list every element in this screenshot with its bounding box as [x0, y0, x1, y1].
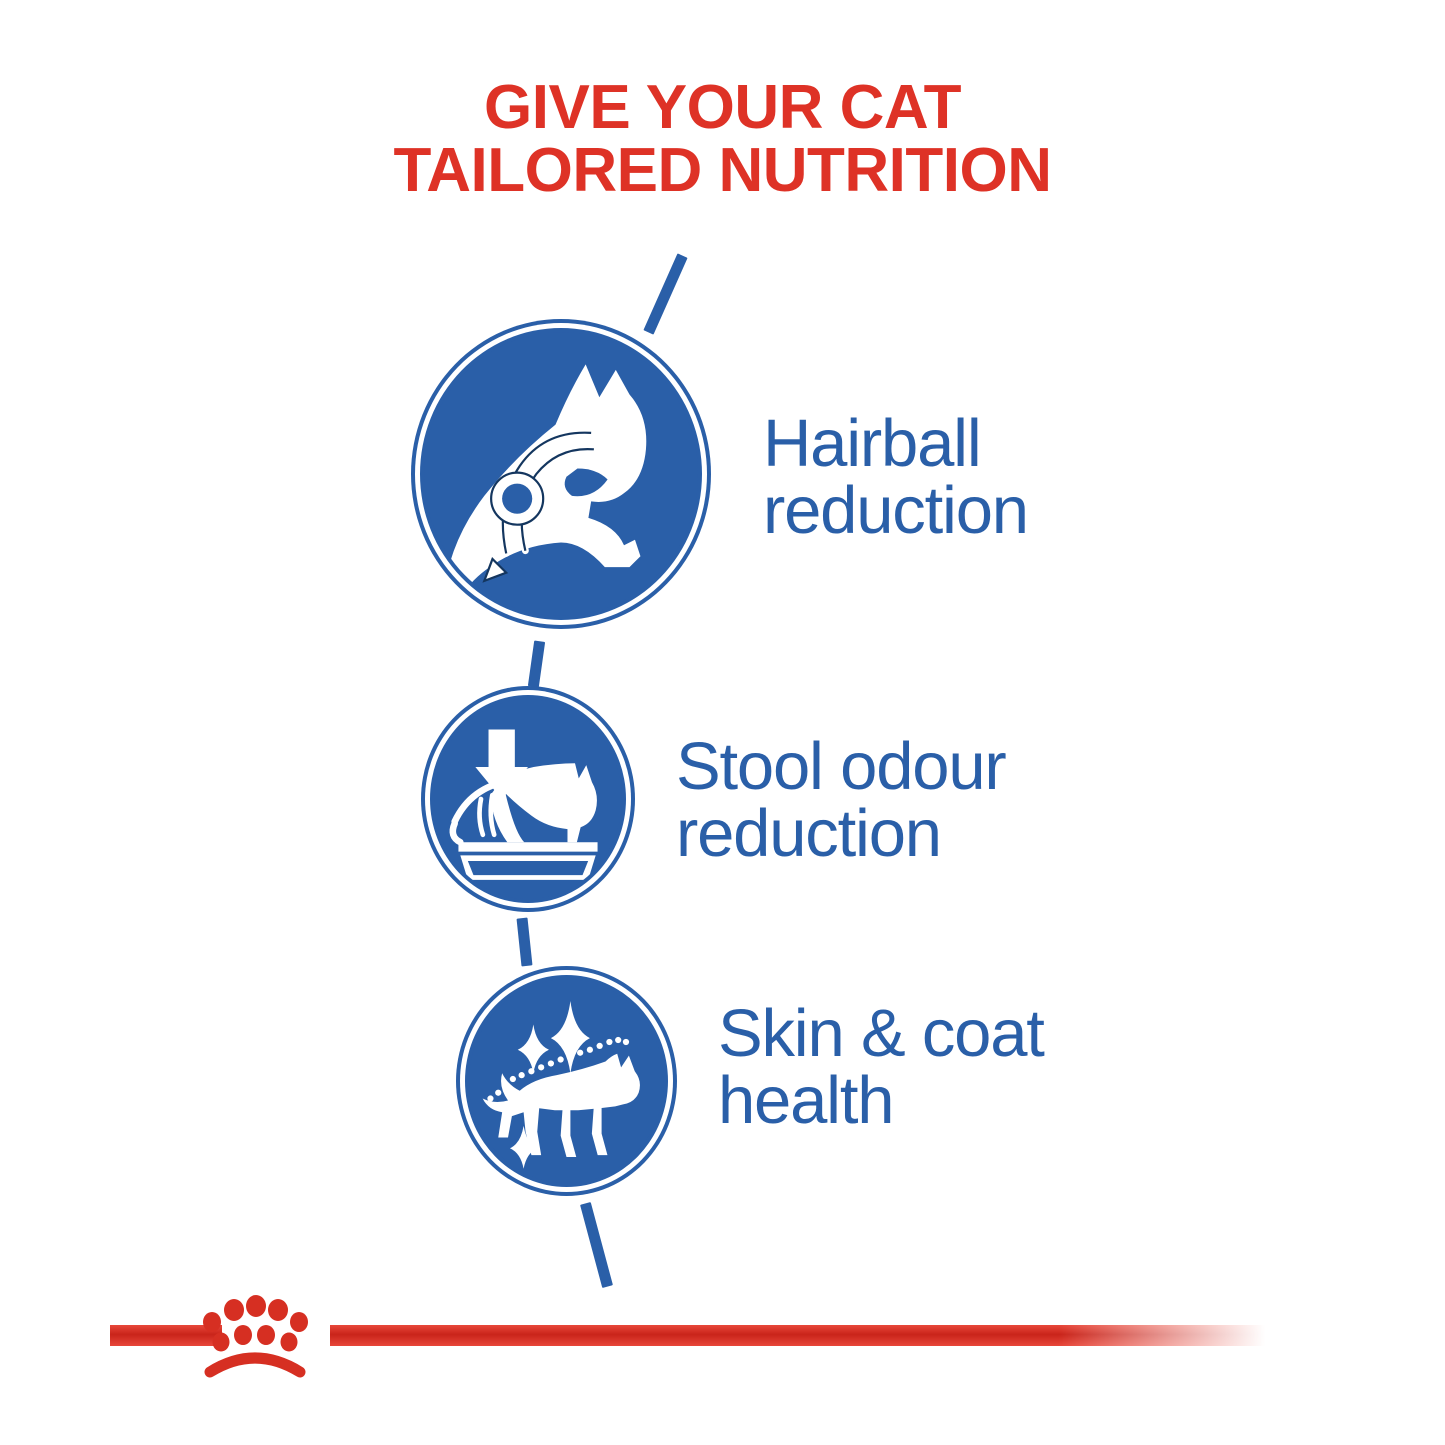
- pack-panel: GIVE YOUR CAT TAILORED NUTRITION: [0, 0, 1445, 1445]
- page-title-line-1: GIVE YOUR CAT: [0, 76, 1445, 139]
- footer-rule-right: [330, 1325, 1265, 1346]
- benefit-label-stool-odour: Stool odour reduction: [676, 733, 1006, 867]
- benefit-label-line-1: Hairball: [763, 410, 1028, 477]
- connector-dash-between-2-3: [517, 918, 533, 967]
- cat-litter-box-odour-icon: [430, 695, 626, 903]
- benefit-label-line-2: reduction: [676, 800, 1006, 867]
- benefit-label-line-1: Skin & coat: [718, 1000, 1044, 1067]
- royal-canin-crown-icon: [190, 1288, 320, 1398]
- cat-shiny-coat-sparkle-icon: [465, 975, 668, 1187]
- cat-hairball-digestion-icon: [420, 328, 702, 620]
- connector-dash-top: [643, 253, 687, 334]
- page-title-line-2: TAILORED NUTRITION: [0, 139, 1445, 202]
- connector-dash-bottom: [580, 1202, 613, 1288]
- benefit-label-line-2: health: [718, 1067, 1044, 1134]
- benefit-label-line-1: Stool odour: [676, 733, 1006, 800]
- benefit-label-skin-coat: Skin & coat health: [718, 1000, 1044, 1134]
- page-title: GIVE YOUR CAT TAILORED NUTRITION: [0, 76, 1445, 202]
- benefit-label-hairball: Hairball reduction: [763, 410, 1028, 544]
- connector-dash-between-1-2: [528, 640, 545, 687]
- benefit-label-line-2: reduction: [763, 477, 1028, 544]
